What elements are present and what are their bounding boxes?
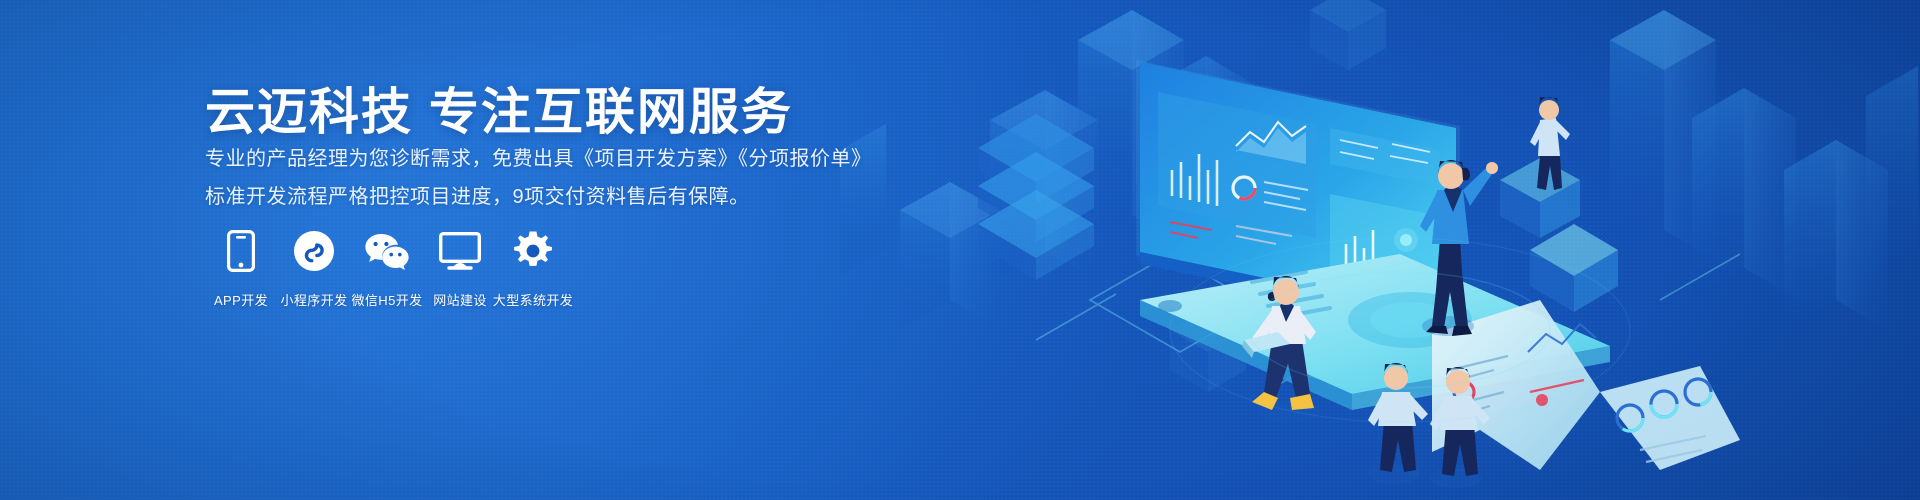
mini-program-icon bbox=[293, 228, 335, 274]
service-label-miniprogram: 小程序开发 bbox=[280, 290, 347, 309]
banner-content: 云迈科技 专注互联网服务 专业的产品经理为您诊断需求，免费出具《项目开发方案》《… bbox=[205, 0, 965, 500]
monitor-icon bbox=[439, 228, 481, 274]
subtitle-line-2: 标准开发流程严格把控项目进度，9项交付资料售后有保障。 bbox=[205, 178, 925, 216]
promo-banner: 云迈科技 专注互联网服务 专业的产品经理为您诊断需求，免费出具《项目开发方案》《… bbox=[0, 0, 1920, 500]
server-stack bbox=[978, 114, 1094, 280]
service-item-app[interactable]: APP开发 bbox=[205, 228, 277, 309]
service-label-system: 大型系统开发 bbox=[493, 290, 573, 309]
service-icon-row: APP开发 小程序开发 bbox=[205, 228, 569, 309]
mobile-phone-icon bbox=[227, 228, 255, 274]
gear-icon bbox=[512, 228, 554, 274]
banner-subtitle: 专业的产品经理为您诊断需求，免费出具《项目开发方案》《分项报价单》 标准开发流程… bbox=[205, 140, 925, 216]
subtitle-line-1: 专业的产品经理为您诊断需求，免费出具《项目开发方案》《分项报价单》 bbox=[205, 140, 925, 178]
service-item-system[interactable]: 大型系统开发 bbox=[497, 228, 569, 309]
service-item-website[interactable]: 网站建设 bbox=[424, 228, 496, 309]
wechat-icon bbox=[364, 228, 410, 274]
isometric-tech-illustration bbox=[840, 0, 1920, 500]
service-label-website: 网站建设 bbox=[433, 290, 487, 309]
service-label-app: APP开发 bbox=[214, 290, 268, 309]
analytics-paper-scroll bbox=[1432, 300, 1740, 470]
service-label-wechat: 微信H5开发 bbox=[351, 290, 422, 309]
banner-headline: 云迈科技 专注互联网服务 bbox=[205, 72, 793, 144]
service-item-wechat[interactable]: 微信H5开发 bbox=[351, 228, 423, 309]
service-item-miniprogram[interactable]: 小程序开发 bbox=[278, 228, 350, 309]
